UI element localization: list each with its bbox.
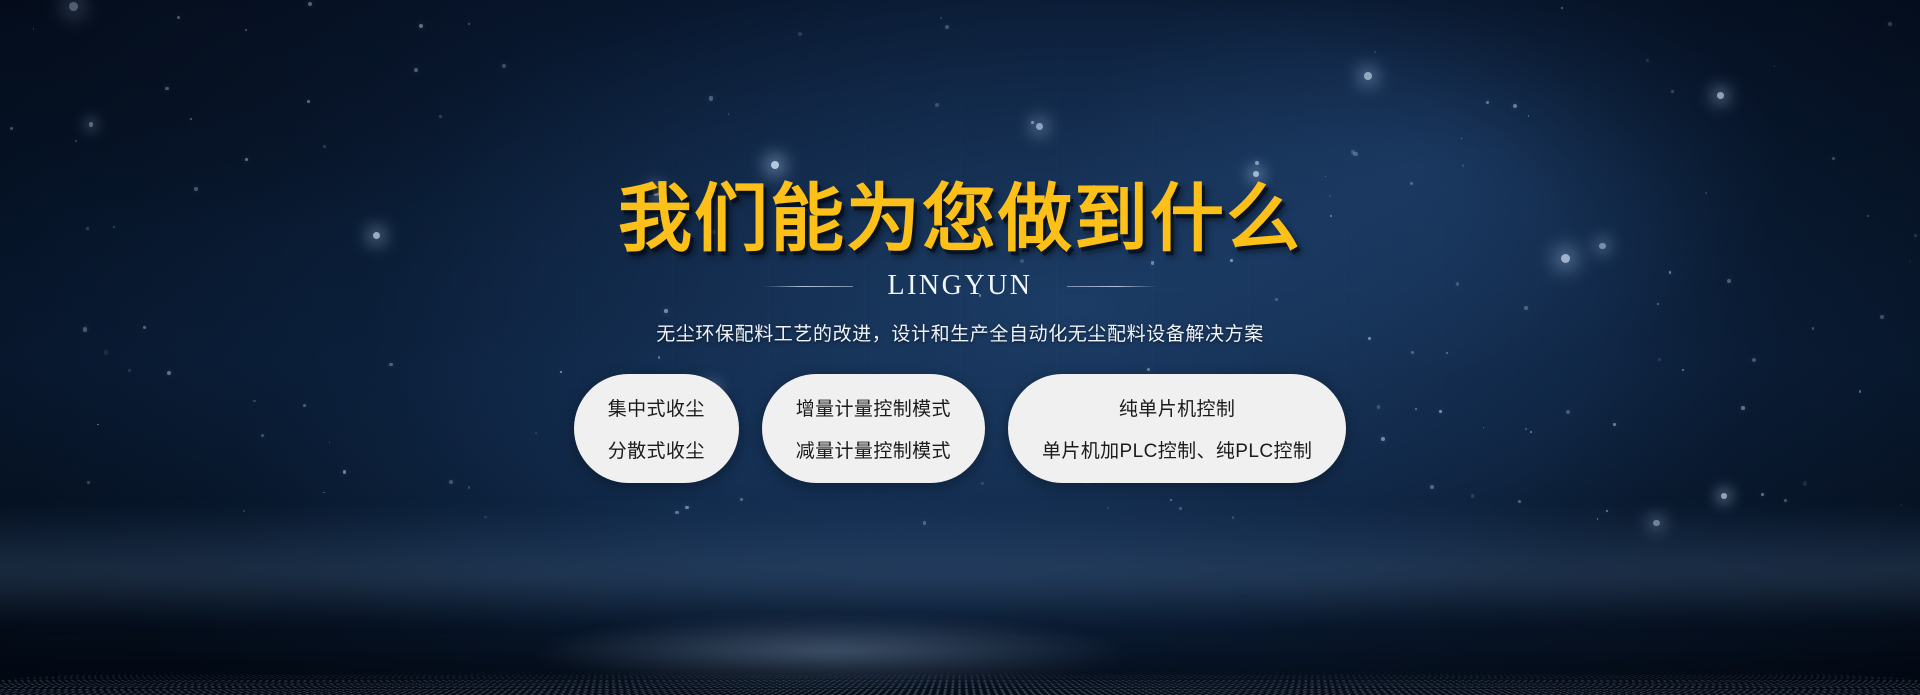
hero-banner: 我们能为您做到什么 LINGYUN 无尘环保配料工艺的改进，设计和生产全自动化无… xyxy=(0,0,1920,695)
pill-line: 减量计量控制模式 xyxy=(796,436,951,463)
feature-pill-control-system[interactable]: 纯单片机控制 单片机加PLC控制、纯PLC控制 xyxy=(1008,374,1346,483)
pill-line: 纯单片机控制 xyxy=(1119,394,1235,421)
divider-line-right xyxy=(1067,286,1157,287)
tagline: 无尘环保配料工艺的改进，设计和生产全自动化无尘配料设备解决方案 xyxy=(656,319,1264,346)
brand-subtitle-row: LINGYUN xyxy=(763,270,1156,302)
divider-line-left xyxy=(763,286,853,287)
feature-pill-dust-collection[interactable]: 集中式收尘 分散式收尘 xyxy=(574,374,739,483)
pill-line: 增量计量控制模式 xyxy=(796,394,951,421)
brand-name-en: LINGYUN xyxy=(887,270,1032,302)
feature-pill-metering-mode[interactable]: 增量计量控制模式 减量计量控制模式 xyxy=(762,374,985,483)
pill-line: 单片机加PLC控制、纯PLC控制 xyxy=(1042,436,1312,463)
hero-content: 我们能为您做到什么 LINGYUN 无尘环保配料工艺的改进，设计和生产全自动化无… xyxy=(0,0,1920,695)
feature-pill-list: 集中式收尘 分散式收尘 增量计量控制模式 减量计量控制模式 纯单片机控制 单片机… xyxy=(574,374,1347,483)
pill-line: 集中式收尘 xyxy=(608,394,705,421)
pill-line: 分散式收尘 xyxy=(608,436,705,463)
page-title: 我们能为您做到什么 xyxy=(618,182,1302,256)
